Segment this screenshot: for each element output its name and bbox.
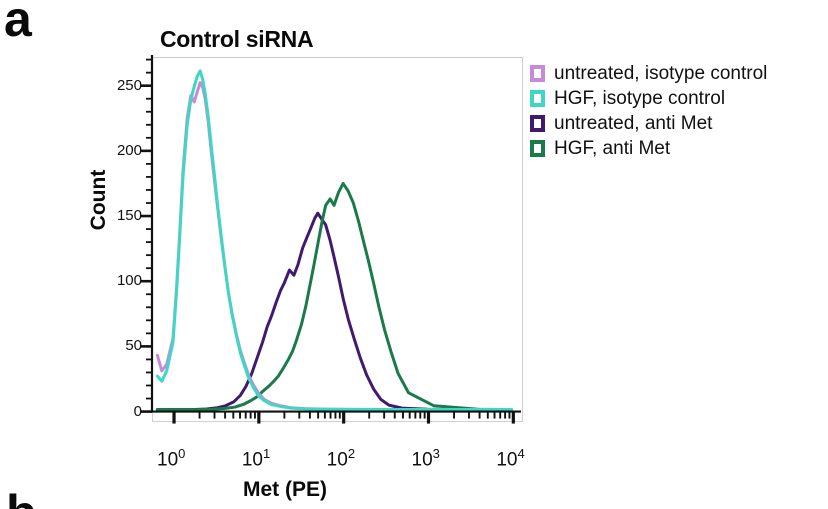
y-tick-label: 250 [96,78,142,93]
legend-swatch-icon [530,90,545,107]
histogram-curves [153,58,521,420]
legend-item[interactable]: HGF, isotype control [530,86,828,111]
x-axis-title: Met (PE) [243,478,327,502]
legend-label: HGF, isotype control [554,89,725,108]
panel-label-a: a [4,0,31,44]
x-axis-tick-labels: 100101102103104 [0,430,828,470]
y-tick-label: 0 [96,404,142,419]
legend-label: untreated, isotype control [554,64,767,83]
legend-swatch-icon [530,115,545,132]
legend-swatch-icon [530,140,545,157]
y-tick-label: 100 [96,273,142,288]
legend-label: HGF, anti Met [554,139,670,158]
y-tick-label: 200 [96,143,142,158]
curve [157,183,511,409]
x-tick-label: 103 [412,446,440,471]
chart-title: Control siRNA [160,26,313,53]
plot-area [152,57,523,422]
legend-label: untreated, anti Met [554,114,712,133]
x-tick-label: 102 [327,446,355,471]
x-tick-label: 104 [496,446,524,471]
legend-item[interactable]: untreated, isotype control [530,61,828,86]
x-tick-label: 101 [242,446,270,471]
y-tick-label: 50 [96,338,142,353]
y-tick-label: 150 [96,208,142,223]
curve [157,213,511,410]
legend-swatch-icon [530,65,545,82]
legend: untreated, isotype controlHGF, isotype c… [530,61,828,161]
panel-label-b: b [6,488,37,509]
legend-item[interactable]: HGF, anti Met [530,136,828,161]
curve [157,71,511,410]
x-tick-label: 100 [157,446,185,471]
legend-item[interactable]: untreated, anti Met [530,111,828,136]
